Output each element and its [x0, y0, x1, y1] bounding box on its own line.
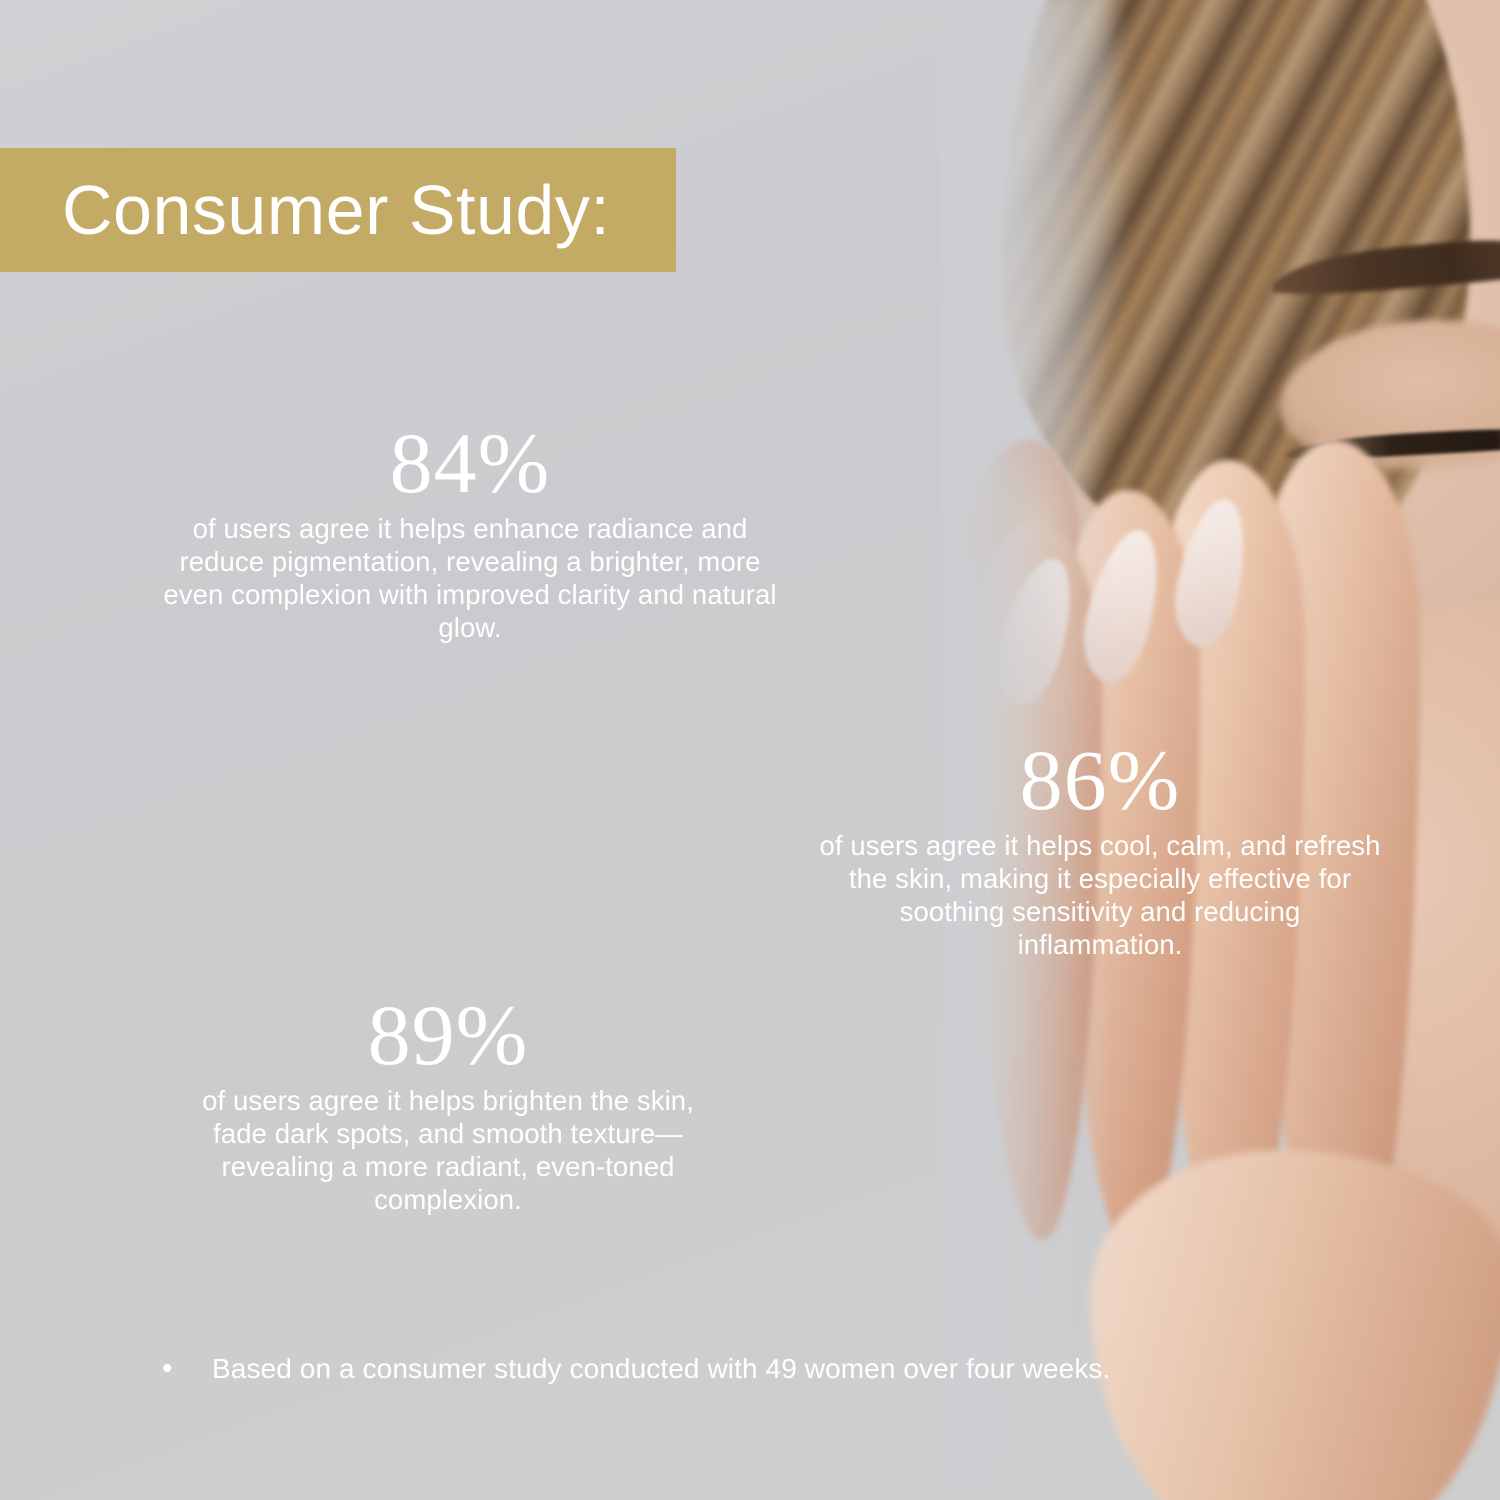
stat-percent-89: 89% [178, 990, 718, 1080]
footnote: • Based on a consumer study conducted wi… [160, 1350, 1110, 1388]
stat-percent-86: 86% [815, 735, 1385, 825]
bullet-icon: • [160, 1350, 212, 1388]
stat-block-84: 84% of users agree it helps enhance radi… [160, 418, 780, 644]
footnote-text: Based on a consumer study conducted with… [212, 1350, 1110, 1388]
consumer-study-poster: Consumer Study: 84% of users agree it he… [0, 0, 1500, 1500]
stat-description-86: of users agree it helps cool, calm, and … [815, 829, 1385, 961]
stat-description-84: of users agree it helps enhance radiance… [160, 512, 780, 644]
stat-block-89: 89% of users agree it helps brighten the… [178, 990, 718, 1216]
stat-description-89: of users agree it helps brighten the ski… [178, 1084, 718, 1216]
stat-percent-84: 84% [160, 418, 780, 508]
title-banner: Consumer Study: [0, 148, 676, 272]
stat-block-86: 86% of users agree it helps cool, calm, … [815, 735, 1385, 961]
wrist-shape [1090, 1150, 1500, 1500]
page-title: Consumer Study: [62, 175, 610, 245]
